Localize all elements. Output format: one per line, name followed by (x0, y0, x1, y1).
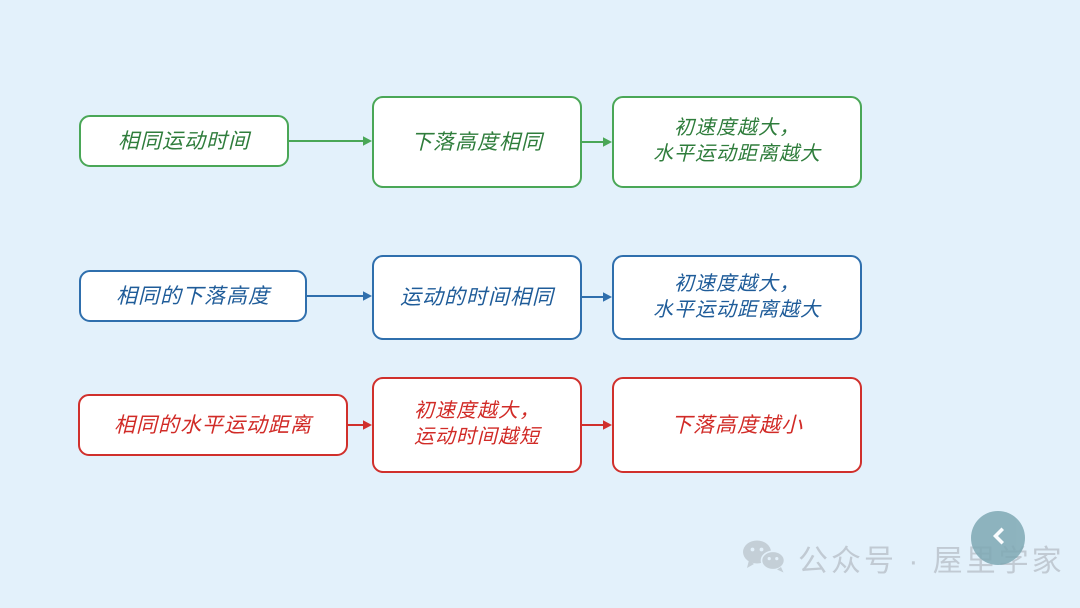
flow-node-g2: 下落高度相同 (372, 96, 582, 188)
flow-arrow (348, 418, 372, 432)
flow-node-r1: 相同的水平运动距离 (78, 394, 348, 456)
flow-node-b1: 相同的下落高度 (79, 270, 307, 322)
flow-node-g3: 初速度越大， 水平运动距离越大 (612, 96, 862, 188)
flow-node-r2: 初速度越大， 运动时间越短 (372, 377, 582, 473)
flow-node-b3: 初速度越大， 水平运动距离越大 (612, 255, 862, 340)
flow-arrow (582, 290, 612, 304)
flow-arrow (582, 135, 612, 149)
flow-arrow (289, 134, 372, 148)
flow-arrow (307, 289, 372, 303)
slide-canvas: 相同运动时间下落高度相同初速度越大， 水平运动距离越大相同的下落高度运动的时间相… (0, 0, 1080, 608)
flow-node-b2: 运动的时间相同 (372, 255, 582, 340)
wechat-icon (742, 539, 786, 578)
chevron-left-icon (985, 523, 1011, 554)
flow-node-g1: 相同运动时间 (79, 115, 289, 167)
watermark-text: 公众号 · 屋里学家 (798, 536, 1065, 580)
back-button[interactable] (971, 511, 1025, 565)
flow-arrow (582, 418, 612, 432)
flow-node-r3: 下落高度越小 (612, 377, 862, 473)
